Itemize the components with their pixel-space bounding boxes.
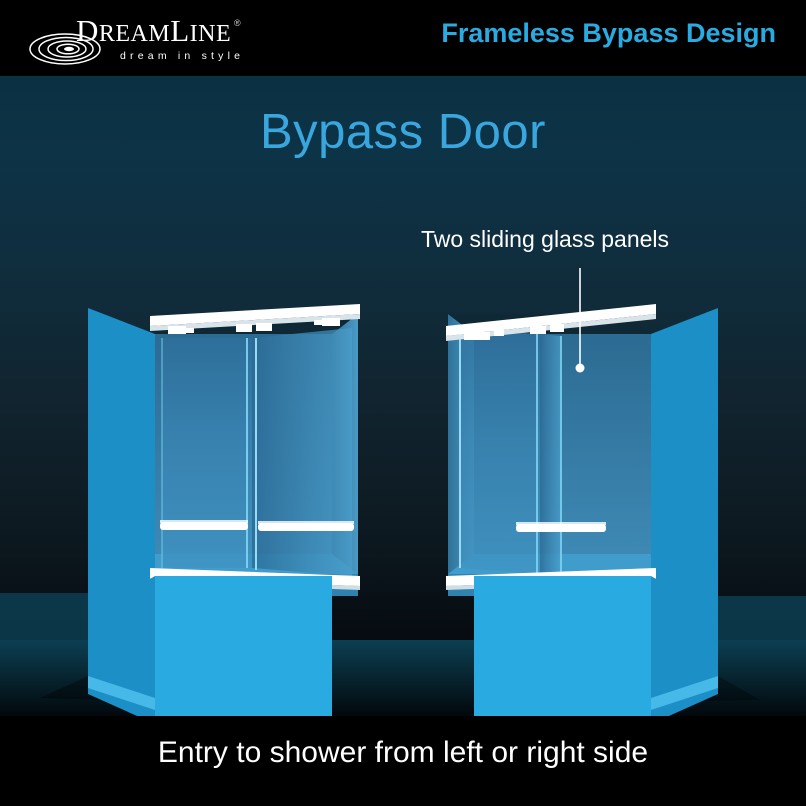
product-infographic: Bypass Door Two sliding glass panels DRE… <box>0 0 806 806</box>
shower-illustration-svg <box>0 76 806 716</box>
footer-bar: Entry to shower from left or right side <box>0 716 806 806</box>
glass-panel-left[interactable] <box>460 328 540 574</box>
wordmark-d: D <box>76 13 99 48</box>
bypass-door-unit-right[interactable] <box>446 304 760 716</box>
tub-apron-front <box>155 576 332 716</box>
glass-panel-right[interactable] <box>540 334 560 576</box>
brand-wordmark: DREAMLINE <box>76 14 231 51</box>
glass-panel-left[interactable] <box>162 338 252 568</box>
header-bar: DREAMLINE ® dream in style Frameless Byp… <box>0 0 806 76</box>
wordmark-l: L <box>170 13 189 48</box>
brand-tagline: dream in style <box>120 50 244 62</box>
door-handle-right[interactable] <box>258 521 354 531</box>
bypass-door-unit-left[interactable] <box>40 304 360 716</box>
door-handle-left[interactable] <box>160 520 248 530</box>
wordmark-ream: REAM <box>99 21 170 47</box>
brand-logo[interactable]: DREAMLINE ® dream in style <box>28 14 260 66</box>
page-title: Bypass Door <box>0 104 806 160</box>
glass-panel-right[interactable] <box>252 328 352 576</box>
registered-trademark-icon: ® <box>234 18 241 28</box>
wordmark-ine: INE <box>190 21 231 47</box>
illustration-scene: Bypass Door Two sliding glass panels <box>0 76 806 716</box>
door-handle[interactable] <box>516 522 606 532</box>
tub-apron-front <box>474 576 651 716</box>
footer-caption: Entry to shower from left or right side <box>0 736 806 770</box>
header-title: Frameless Bypass Design <box>441 18 776 49</box>
